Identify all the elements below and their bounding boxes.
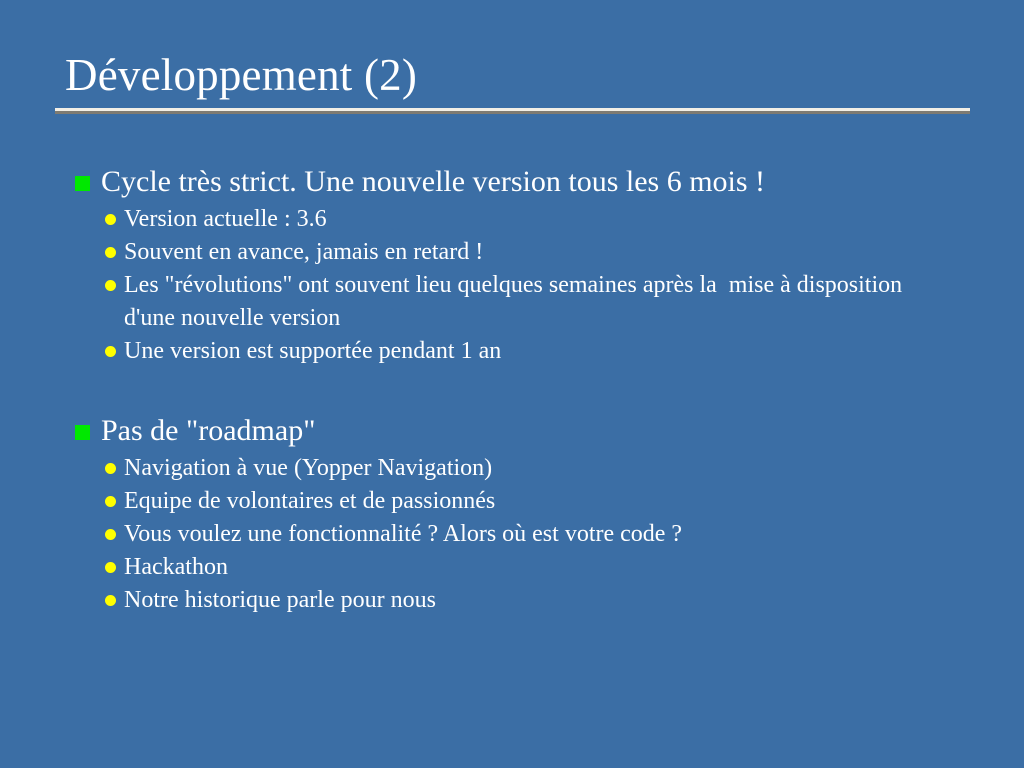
section-spacer: [75, 368, 975, 412]
green-square-bullet-icon: [75, 176, 90, 191]
level2-bullet-text: Vous voulez une fonctionnalité ? Alors o…: [124, 518, 682, 551]
yellow-dot-bullet-icon: [105, 463, 116, 474]
title-divider: [55, 108, 970, 114]
level1-bullet-item: Cycle très strict. Une nouvelle version …: [75, 163, 975, 201]
level1-bullet-text: Cycle très strict. Une nouvelle version …: [101, 163, 765, 201]
level2-bullet-text: Souvent en avance, jamais en retard !: [124, 236, 483, 269]
level2-bullet-text: Une version est supportée pendant 1 an: [124, 335, 501, 368]
list-item: Hackathon: [75, 551, 975, 584]
yellow-dot-bullet-icon: [105, 496, 116, 507]
yellow-dot-bullet-icon: [105, 247, 116, 258]
list-item: Notre historique parle pour nous: [75, 584, 975, 617]
outline-section-1: Cycle très strict. Une nouvelle version …: [75, 163, 975, 368]
level1-bullet-text: Pas de "roadmap": [101, 412, 315, 450]
list-item: Version actuelle : 3.6: [75, 203, 975, 236]
list-item: Les "révolutions" ont souvent lieu quelq…: [75, 269, 975, 335]
presentation-slide: Développement (2) Cycle très strict. Une…: [0, 0, 1024, 768]
yellow-dot-bullet-icon: [105, 529, 116, 540]
slide-body: Cycle très strict. Une nouvelle version …: [75, 163, 975, 617]
yellow-dot-bullet-icon: [105, 280, 116, 291]
level2-bullet-list: Version actuelle : 3.6 Souvent en avance…: [75, 203, 975, 368]
level2-bullet-text: Version actuelle : 3.6: [124, 203, 327, 236]
title-divider-shadow: [55, 111, 970, 114]
level2-bullet-text: Hackathon: [124, 551, 228, 584]
level1-bullet-item: Pas de "roadmap": [75, 412, 975, 450]
yellow-dot-bullet-icon: [105, 562, 116, 573]
level2-bullet-text: Navigation à vue (Yopper Navigation): [124, 452, 492, 485]
list-item: Une version est supportée pendant 1 an: [75, 335, 975, 368]
yellow-dot-bullet-icon: [105, 346, 116, 357]
yellow-dot-bullet-icon: [105, 214, 116, 225]
title-block: Développement (2): [55, 48, 970, 114]
list-item: Equipe de volontaires et de passionnés: [75, 485, 975, 518]
yellow-dot-bullet-icon: [105, 595, 116, 606]
level2-bullet-text: Notre historique parle pour nous: [124, 584, 436, 617]
level2-bullet-text: Equipe de volontaires et de passionnés: [124, 485, 495, 518]
outline-section-2: Pas de "roadmap" Navigation à vue (Yoppe…: [75, 412, 975, 617]
level2-bullet-list: Navigation à vue (Yopper Navigation) Equ…: [75, 452, 975, 617]
level2-bullet-text: Les "révolutions" ont souvent lieu quelq…: [124, 269, 924, 335]
list-item: Vous voulez une fonctionnalité ? Alors o…: [75, 518, 975, 551]
green-square-bullet-icon: [75, 425, 90, 440]
list-item: Souvent en avance, jamais en retard !: [75, 236, 975, 269]
page-title: Développement (2): [55, 48, 970, 102]
list-item: Navigation à vue (Yopper Navigation): [75, 452, 975, 485]
